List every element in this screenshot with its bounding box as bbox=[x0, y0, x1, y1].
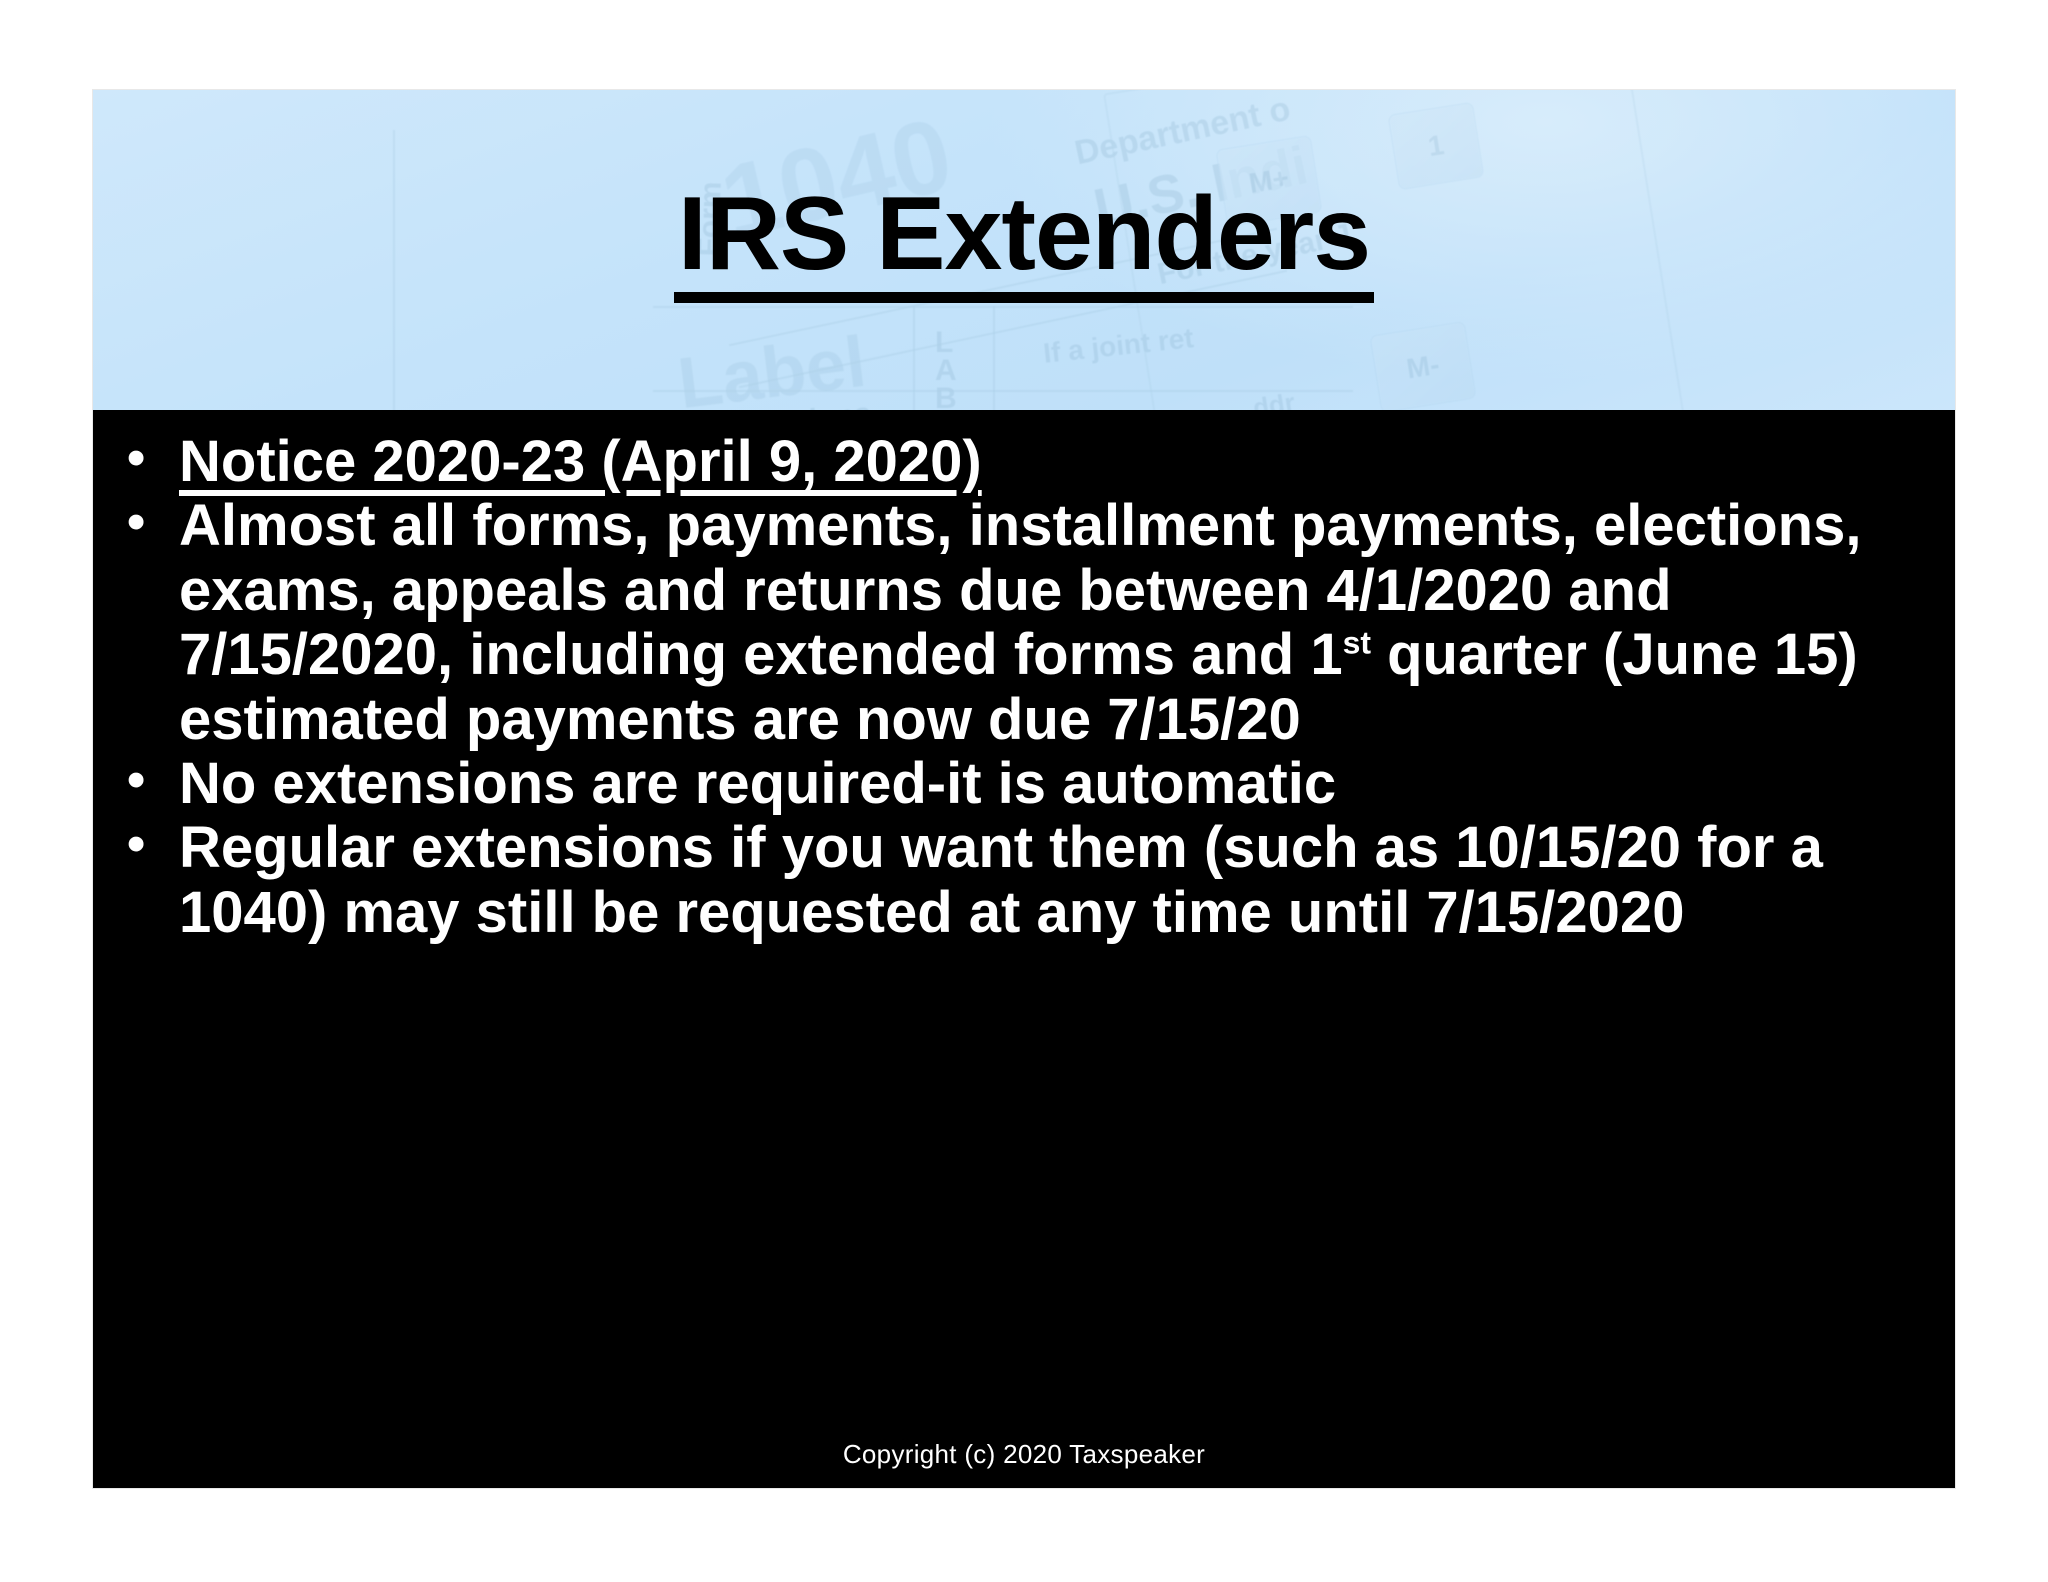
bullet-text-regular-extensions: Regular extensions if you want them (suc… bbox=[179, 815, 1823, 944]
list-item: Almost all forms, payments, installment … bbox=[117, 494, 1915, 752]
art-form-rule bbox=[993, 306, 995, 410]
bullet-text-no-extensions: No extensions are required-it is automat… bbox=[179, 751, 1336, 816]
list-item: Regular extensions if you want them (suc… bbox=[117, 816, 1915, 945]
slide-header: Form 1040 Department o U.S. Indi For the… bbox=[93, 90, 1955, 410]
art-letter-b: B bbox=[935, 382, 957, 410]
list-item: No extensions are required-it is automat… bbox=[117, 752, 1915, 816]
title-container: IRS Extenders bbox=[93, 182, 1955, 303]
presentation-slide: Form 1040 Department o U.S. Indi For the… bbox=[93, 90, 1955, 1488]
art-form-rule bbox=[913, 306, 915, 410]
copyright-footer: Copyright (c) 2020 Taxspeaker bbox=[93, 1439, 1955, 1470]
bullet-text-almost-all-forms: Almost all forms, payments, installment … bbox=[179, 493, 1861, 751]
list-item: Notice 2020-23 (April 9, 2020) bbox=[117, 430, 1915, 494]
bullet-text-notice: Notice 2020-23 (April 9, 2020) bbox=[179, 429, 982, 494]
slide-body: Notice 2020-23 (April 9, 2020) Almost al… bbox=[93, 410, 1955, 1488]
ordinal-suffix: st bbox=[1343, 625, 1371, 661]
bullet-list: Notice 2020-23 (April 9, 2020) Almost al… bbox=[93, 410, 1955, 945]
page-title: IRS Extenders bbox=[674, 182, 1374, 303]
